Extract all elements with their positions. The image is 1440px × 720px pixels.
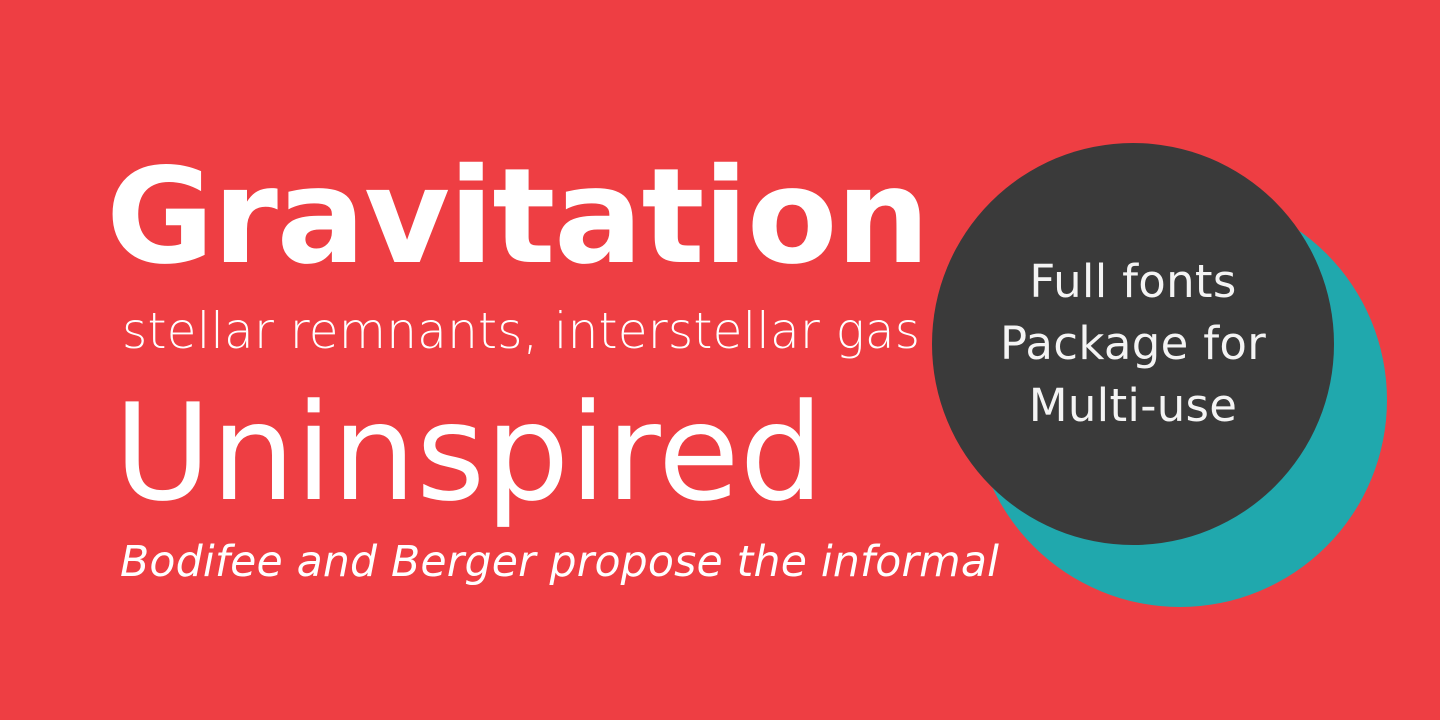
badge-line-2: Package for <box>1000 313 1266 375</box>
badge-text-block: Full fonts Package for Multi-use <box>932 143 1334 545</box>
badge-line-1: Full fonts <box>1029 251 1236 313</box>
headline-uninspired: Uninspired <box>114 386 824 520</box>
subline-stellar-remnants: stellar remnants, interstellar gas <box>122 306 920 356</box>
badge-line-3: Multi-use <box>1029 375 1238 437</box>
poster-canvas: Gravitation stellar remnants, interstell… <box>0 0 1440 720</box>
type-specimen-block: Gravitation stellar remnants, interstell… <box>0 0 930 720</box>
subline-bodifee-berger: Bodifee and Berger propose the informal <box>120 541 999 584</box>
circle-badge: Full fonts Package for Multi-use <box>900 110 1440 650</box>
headline-gravitation: Gravitation <box>106 151 929 283</box>
